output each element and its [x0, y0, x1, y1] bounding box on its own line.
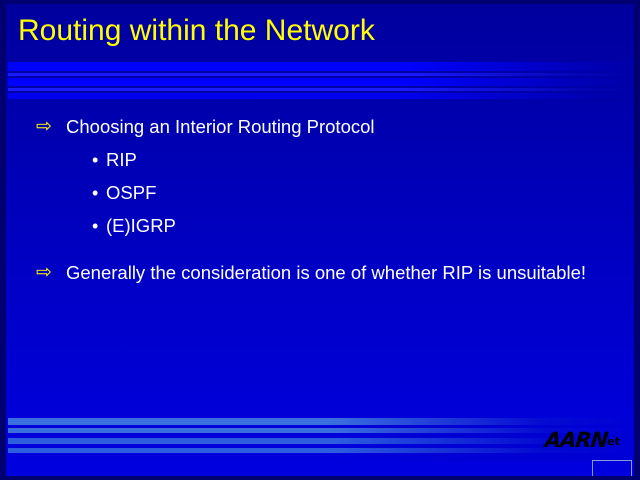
bar-fade-overlay [402, 62, 632, 102]
bullet-level1: ⇨ Choosing an Interior Routing Protocol [36, 114, 616, 139]
bullet-text: RIP [106, 148, 137, 172]
slide-body: ⇨ Choosing an Interior Routing Protocol … [36, 114, 616, 289]
logo-name: AARN [544, 428, 609, 452]
spacer [36, 247, 616, 260]
page-number-box [592, 460, 632, 480]
bullet-text: Generally the consideration is one of wh… [66, 260, 616, 285]
bullet-level1: ⇨ Generally the consideration is one of … [36, 260, 616, 285]
bullet-text: Choosing an Interior Routing Protocol [66, 114, 616, 139]
aarnet-logo: AARNet [544, 428, 622, 452]
bullet-text: (E)IGRP [106, 214, 176, 238]
page-title: Routing within the Network [18, 14, 618, 48]
logo-suffix: et [606, 435, 620, 448]
bullet-level2: • OSPF [92, 181, 616, 205]
bullet-dot-icon: • [92, 181, 106, 205]
bullet-text: OSPF [106, 181, 156, 205]
arrow-right-icon: ⇨ [36, 114, 66, 139]
bullet-dot-icon: • [92, 148, 106, 172]
decorative-bars-bottom [8, 418, 632, 462]
bullet-level2: • RIP [92, 148, 616, 172]
decorative-bars-top [8, 62, 632, 102]
bullet-dot-icon: • [92, 214, 106, 238]
bullet-level2: • (E)IGRP [92, 214, 616, 238]
arrow-right-icon: ⇨ [36, 260, 66, 285]
slide: Routing within the Network ⇨ Choosing an… [0, 0, 640, 480]
